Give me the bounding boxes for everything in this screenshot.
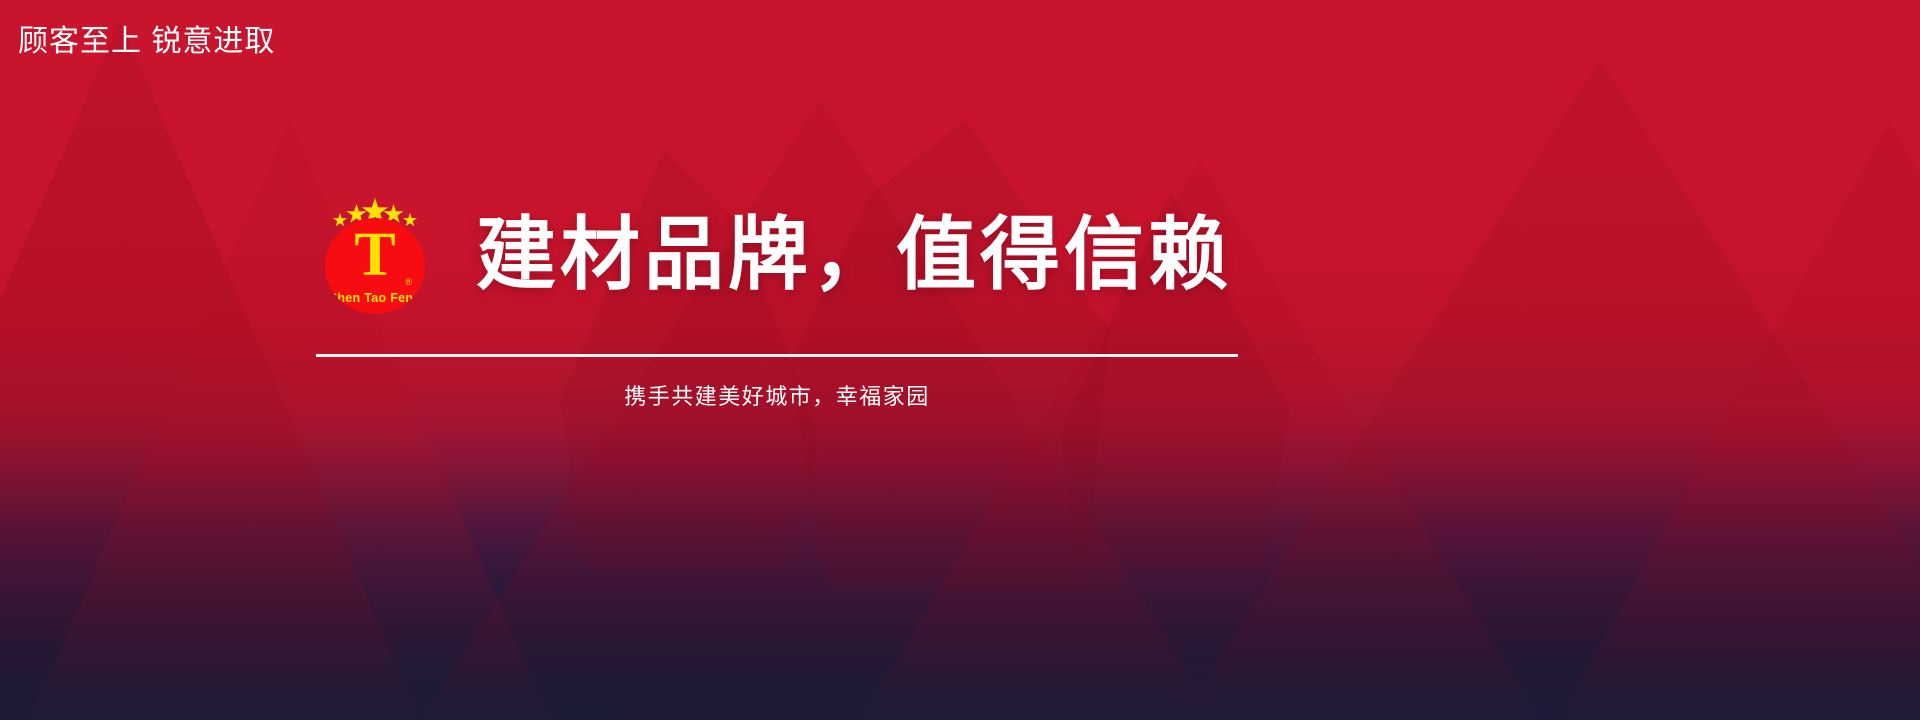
headline-row: T ® Shen Tao Feng 建材品牌，值得信赖 [322, 196, 1232, 314]
logo-circle: T ® Shen Tao Feng [325, 218, 425, 314]
company-logo: T ® Shen Tao Feng [322, 196, 428, 314]
banner-subtitle: 携手共建美好城市，幸福家园 [624, 379, 930, 411]
registered-trademark-icon: ® [405, 278, 412, 287]
mountain-peak-icon [1560, 120, 1920, 720]
divider-line [316, 354, 1238, 357]
banner-headline: 建材品牌，值得信赖 [476, 212, 1232, 298]
promotional-banner: 顾客至上 锐意进取 T ® Shen Tao Feng [0, 0, 1920, 720]
corporate-slogan: 顾客至上 锐意进取 [18, 24, 275, 60]
logo-brand-name: Shen Tao Feng [325, 291, 425, 305]
banner-content: T ® Shen Tao Feng 建材品牌，值得信赖 携手共建美好城市，幸福家… [0, 196, 1554, 411]
